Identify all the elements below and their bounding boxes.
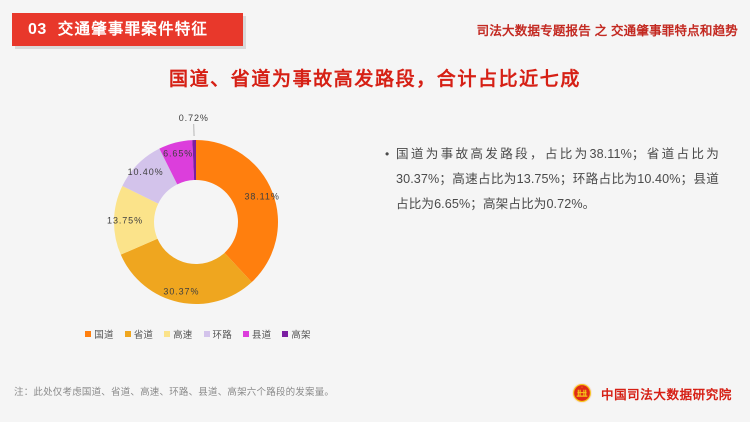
legend-swatch-icon: [125, 331, 131, 337]
legend-swatch-icon: [243, 331, 249, 337]
legend-label: 环路: [213, 327, 232, 341]
donut-value-label: 10.40%: [128, 167, 164, 177]
legend-label: 国道: [94, 327, 113, 341]
bullet-dot-icon: •: [383, 142, 396, 167]
section-number: 03: [28, 22, 47, 38]
legend-label: 高架: [291, 327, 310, 341]
bullet-row: • 国道为事故高发路段，占比为38.11%；省道占比为30.37%；高速占比为1…: [383, 142, 719, 217]
legend-swatch-icon: [282, 331, 288, 337]
donut-chart: 38.11%30.37%13.75%10.40%6.65%0.72% 国道省道高…: [28, 105, 368, 360]
donut-plot-area: 38.11%30.37%13.75%10.40%6.65%0.72%: [28, 105, 368, 320]
section-header-tag: 03 交通肇事罪案件特征: [12, 13, 243, 46]
donut-svg: 38.11%30.37%13.75%10.40%6.65%0.72%: [28, 105, 368, 320]
summary-paragraph: 国道为事故高发路段，占比为38.11%；省道占比为30.37%；高速占比为13.…: [396, 142, 719, 217]
donut-value-label: 38.11%: [244, 191, 279, 201]
legend-swatch-icon: [164, 331, 170, 337]
legend-item[interactable]: 高架: [282, 327, 310, 341]
donut-value-label: 6.65%: [163, 148, 193, 158]
section-title: 交通肇事罪案件特征: [58, 22, 208, 38]
legend-item[interactable]: 县道: [243, 327, 271, 341]
legend-label: 省道: [134, 327, 153, 341]
chart-legend: 国道省道高速环路县道高架: [28, 327, 368, 341]
brand-lockup: 中国司法大数据研究院: [571, 382, 732, 404]
national-emblem-icon: [571, 382, 593, 404]
legend-item[interactable]: 环路: [204, 327, 232, 341]
donut-value-label: 30.37%: [163, 287, 199, 297]
donut-slice: [196, 140, 278, 282]
donut-value-label: 13.75%: [107, 216, 143, 226]
slide-root: 03 交通肇事罪案件特征 司法大数据专题报告 之 交通肇事罪特点和趋势 国道、省…: [0, 0, 750, 422]
legend-item[interactable]: 高速: [164, 327, 192, 341]
summary-text-block: • 国道为事故高发路段，占比为38.11%；省道占比为30.37%；高速占比为1…: [383, 142, 719, 217]
page-title: 国道、省道为事故高发路段，合计占比近七成: [0, 64, 750, 91]
legend-item[interactable]: 国道: [85, 327, 113, 341]
legend-label: 县道: [252, 327, 271, 341]
legend-label: 高速: [173, 327, 192, 341]
report-subtitle: 司法大数据专题报告 之 交通肇事罪特点和趋势: [477, 20, 738, 39]
footnote: 注：此处仅考虑国道、省道、高速、环路、县道、高架六个路段的发案量。: [14, 384, 334, 398]
donut-value-label: 0.72%: [179, 113, 209, 123]
legend-swatch-icon: [85, 331, 91, 337]
brand-name: 中国司法大数据研究院: [601, 384, 732, 403]
legend-item[interactable]: 省道: [125, 327, 153, 341]
legend-swatch-icon: [204, 331, 210, 337]
